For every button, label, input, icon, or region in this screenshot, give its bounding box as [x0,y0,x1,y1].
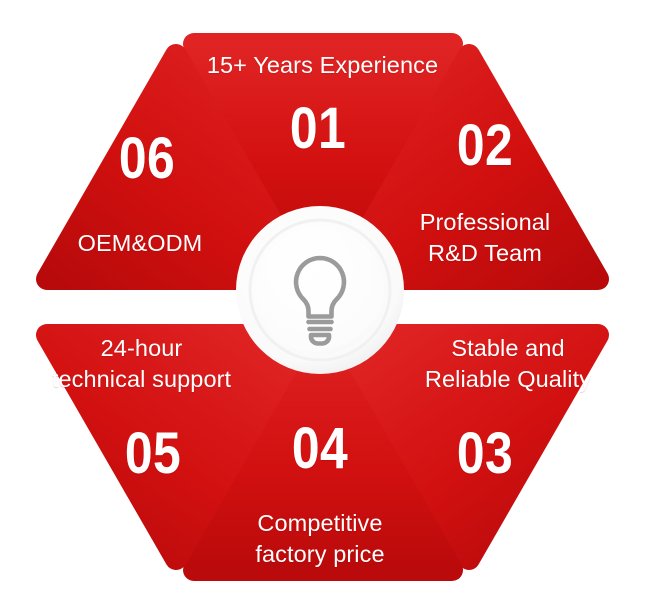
infographic-canvas: 15+ Years Experience 01 02 Professional … [0,0,645,614]
hexagon-wedge-group [0,0,645,614]
